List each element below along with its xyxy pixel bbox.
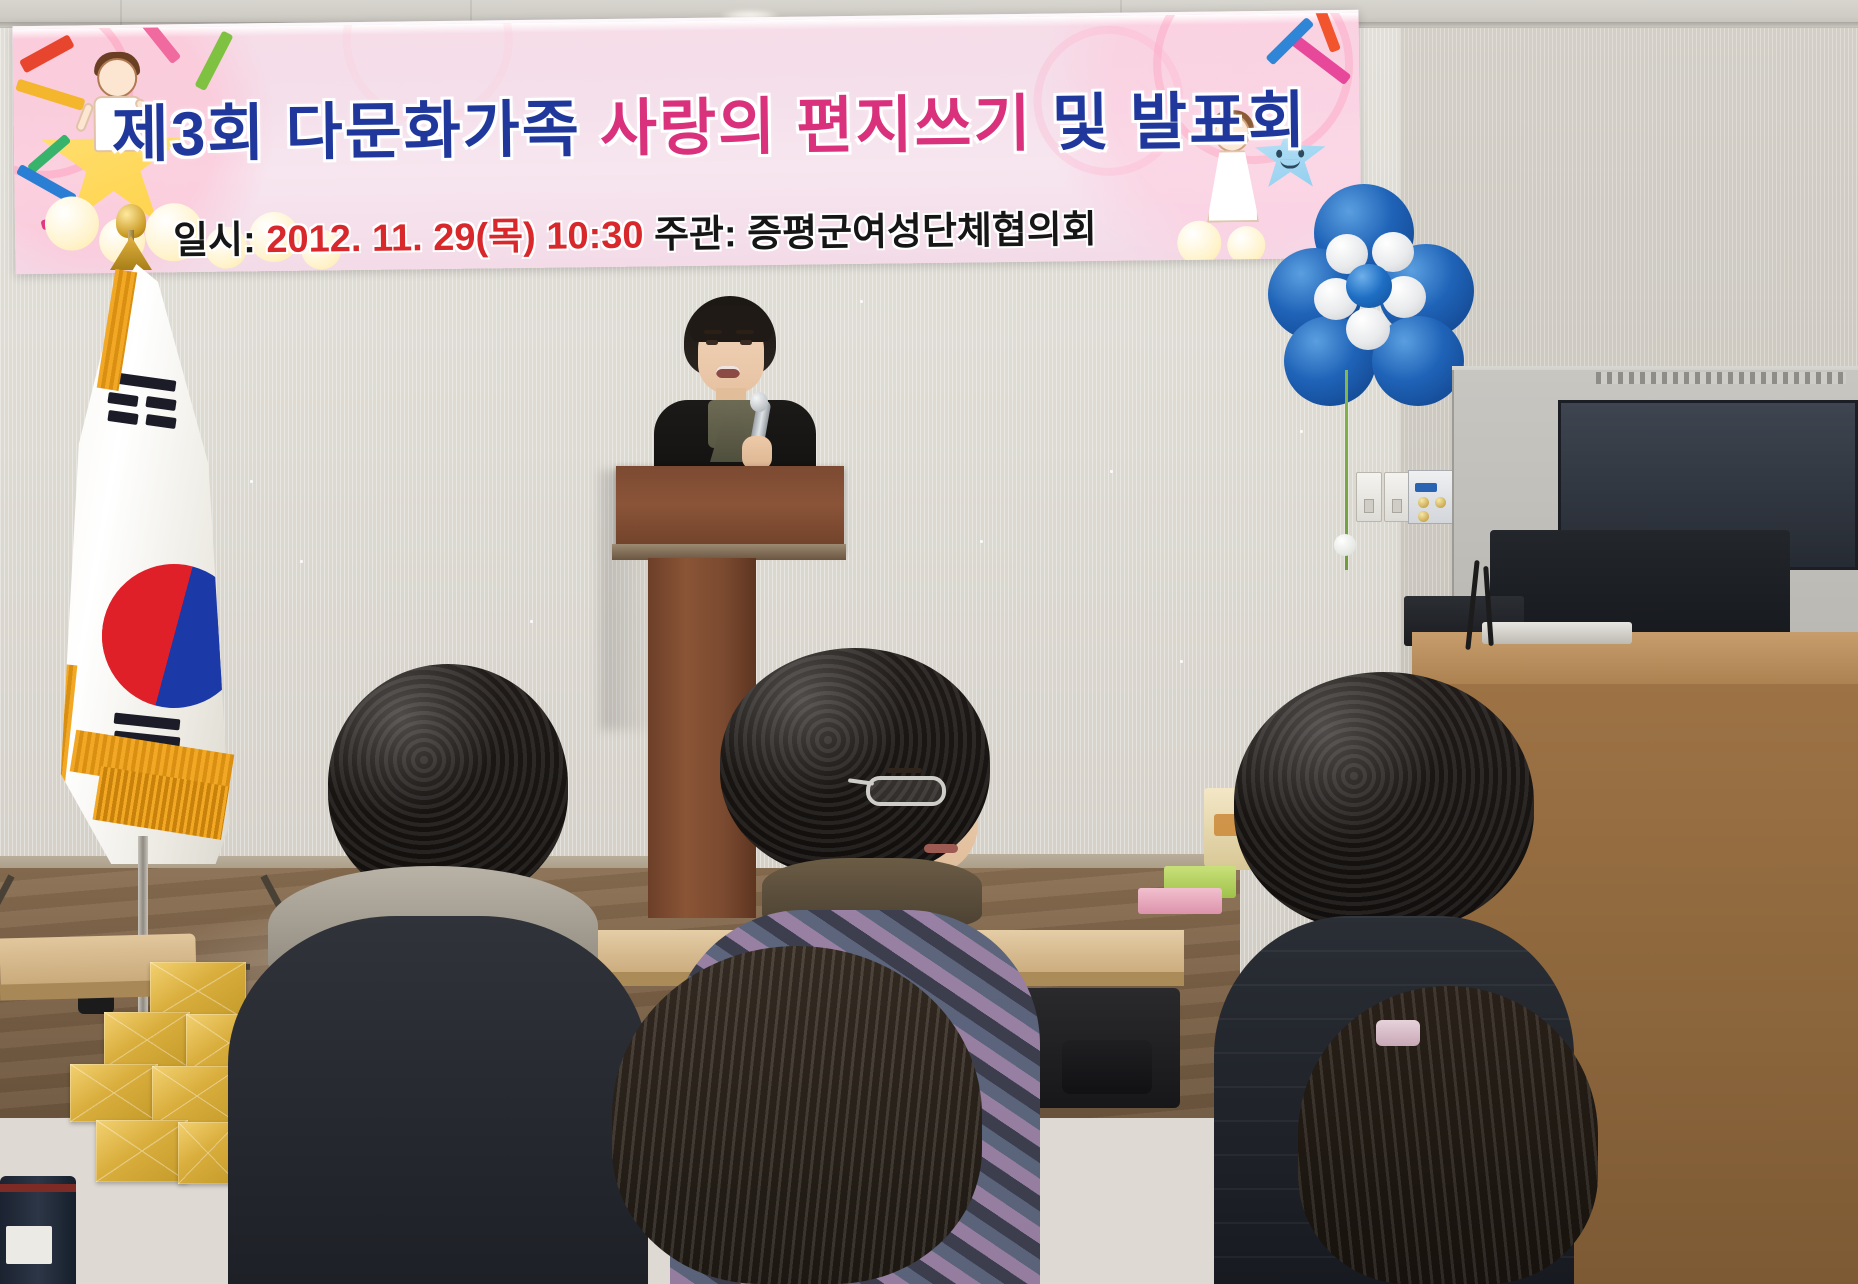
av-jack-icon	[1418, 497, 1429, 508]
banner-host: 주관: 증평군여성단체협의회	[643, 209, 1097, 257]
audience-mouth	[924, 844, 958, 853]
microphone-head-icon	[750, 392, 768, 412]
star-smile	[1280, 160, 1300, 169]
wall-sparkle	[1180, 660, 1183, 663]
speaker-eyebrow	[736, 330, 754, 334]
banner-subtitle: 일시: 2012. 11. 29(목) 10:30 주관: 증평군여성단체협의회	[173, 196, 1294, 265]
banner-title-part-3: 편지쓰기	[796, 90, 1052, 162]
taeguk-red-half	[76, 574, 174, 672]
flag-pole-cap	[110, 236, 152, 270]
audience-hair	[612, 946, 982, 1284]
av-jack-icon	[1435, 497, 1446, 508]
wall-sparkle	[860, 300, 863, 303]
audience-member-1	[228, 664, 648, 1284]
gift-wrap-creases	[70, 1064, 158, 1122]
av-rack-vents	[1596, 372, 1846, 384]
photo-scene: 제3회 다문화가족 사랑의 편지쓰기 및 발표회 일시: 2012. 11. 2…	[0, 0, 1858, 1284]
audience-hair	[1298, 986, 1598, 1284]
light-switch[interactable]	[1392, 499, 1402, 513]
balloon-center	[1346, 264, 1392, 308]
wall-sparkle	[300, 560, 303, 563]
container-label	[6, 1226, 52, 1264]
audience-eyebrow	[886, 768, 922, 773]
speaker-hair-front	[690, 306, 772, 342]
podium-top	[616, 466, 844, 552]
audience-member-5	[1298, 986, 1598, 1284]
gift-wrap-creases	[104, 1012, 190, 1068]
balloon-flower	[1268, 186, 1448, 386]
speaker-eye	[706, 340, 718, 345]
light-switch[interactable]	[1364, 499, 1374, 513]
gift-box	[96, 1120, 188, 1182]
gift-wrap-creases	[96, 1120, 188, 1182]
pink-box	[1138, 888, 1222, 914]
av-wall-plate	[1408, 470, 1458, 524]
wall-sparkle	[530, 620, 533, 623]
wall-switch-plate[interactable]	[1356, 472, 1382, 522]
audience-member-4	[612, 946, 982, 1284]
banner-date-value: 2012. 11. 29(목) 10:30	[266, 215, 644, 262]
tripod-center-post	[138, 836, 148, 1026]
table-device	[1062, 1040, 1152, 1094]
banner-title: 제3회 다문화가족 사랑의 편지쓰기 및 발표회	[111, 70, 1292, 174]
audience-hair	[1234, 672, 1534, 932]
banner-title-part-1: 제3회 다문화가족	[111, 95, 600, 170]
banner-title-part-2: 사랑의	[600, 93, 797, 164]
wall-sparkle	[980, 540, 983, 543]
wall-switch-plate[interactable]	[1384, 472, 1410, 522]
speaker-mouth	[716, 366, 740, 378]
dark-container	[0, 1176, 76, 1284]
hair-clip	[1376, 1020, 1420, 1046]
gift-box	[104, 1012, 190, 1068]
speaker-eye	[740, 340, 752, 345]
speaker-eyebrow	[704, 330, 722, 334]
eyeglasses-icon	[866, 776, 946, 806]
keyboard[interactable]	[1482, 622, 1632, 644]
audience-torso	[228, 916, 648, 1284]
container-band	[0, 1184, 76, 1192]
speaker-hand	[742, 436, 772, 470]
av-plate-blue-label	[1415, 483, 1437, 492]
wall-sparkle	[1110, 470, 1113, 473]
wall-sparkle	[1300, 430, 1303, 433]
gift-box	[70, 1064, 158, 1122]
balloon-knot	[1334, 534, 1356, 556]
banner-title-part-4: 및 발표회	[1051, 86, 1307, 158]
av-jack-icon	[1418, 511, 1429, 522]
balloon-white-petal	[1346, 308, 1390, 350]
